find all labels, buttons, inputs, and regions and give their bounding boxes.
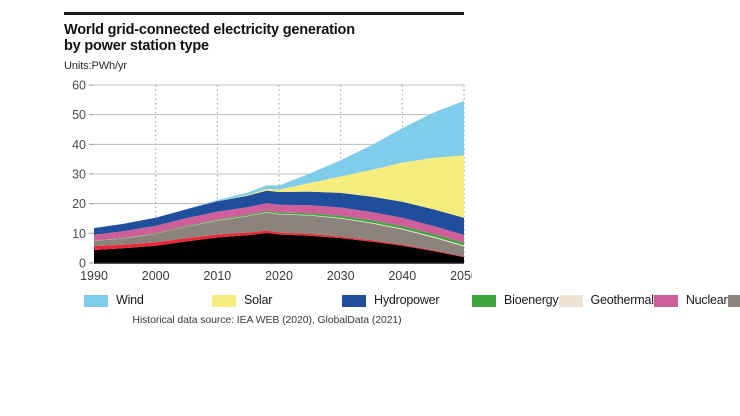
y-axis-tick-label: 10 [72, 227, 86, 241]
y-axis-tick-label: 60 [72, 79, 86, 93]
legend-item-nuclear[interactable]: Nuclear [654, 293, 728, 308]
chart-legend: WindSolarHydropowerBioenergyGeothermalNu… [84, 293, 474, 308]
left-margin-band [0, 0, 30, 416]
legend-swatch-icon [472, 295, 496, 307]
source-note: Historical data source: IEA WEB (2020), … [62, 314, 472, 326]
stacked-area-chart: 0102030405060 19902000201020202030204020… [62, 77, 472, 289]
legend-item-hydropower[interactable]: Hydropower [342, 293, 472, 308]
chart-card: World grid-connected electricity generat… [62, 12, 472, 392]
x-axis-tick-label: 2010 [203, 269, 231, 283]
legend-item-gas-fired[interactable]: Gas-fired [728, 293, 740, 308]
y-axis-tick-label: 40 [72, 138, 86, 152]
area-series-layer [94, 101, 464, 263]
legend-label: Geothermal [591, 294, 654, 307]
y-axis-tick-label: 50 [72, 108, 86, 122]
units-label: Units:PWh/yr [64, 60, 472, 72]
legend-swatch-icon [342, 295, 366, 307]
x-axis-tick-label: 2000 [142, 269, 170, 283]
legend-item-solar[interactable]: Solar [212, 293, 342, 308]
x-axis-tick-label: 2020 [265, 269, 293, 283]
y-axis-tick-label: 20 [72, 197, 86, 211]
legend-label: Wind [116, 294, 144, 307]
legend-item-wind[interactable]: Wind [84, 293, 212, 308]
legend-swatch-icon [654, 295, 678, 307]
figure-canvas: World grid-connected electricity generat… [0, 0, 740, 416]
legend-swatch-icon [212, 295, 236, 307]
x-axis-tick-label: 2050 [450, 269, 472, 283]
legend-swatch-icon [84, 295, 108, 307]
legend-label: Nuclear [686, 294, 728, 307]
legend-swatch-icon [728, 295, 740, 307]
x-axis-tick-label: 1990 [80, 269, 108, 283]
title-rule [64, 12, 464, 15]
legend-label: Hydropower [374, 294, 439, 307]
x-axis-tick-label: 2030 [327, 269, 355, 283]
x-axis-tick-label: 2040 [388, 269, 416, 283]
legend-item-geothermal[interactable]: Geothermal [559, 293, 654, 308]
legend-swatch-icon [559, 295, 583, 307]
chart-title: World grid-connected electricity generat… [64, 22, 472, 54]
y-axis-tick-labels: 0102030405060 [72, 79, 86, 271]
y-axis-tick-label: 30 [72, 168, 86, 182]
x-axis-tick-labels: 1990200020102020203020402050 [80, 269, 472, 283]
legend-label: Solar [244, 294, 272, 307]
legend-item-bioenergy[interactable]: Bioenergy [472, 293, 559, 308]
right-margin-band [710, 0, 740, 416]
legend-label: Bioenergy [504, 294, 559, 307]
plot-area: 0102030405060 19902000201020202030204020… [62, 77, 472, 289]
